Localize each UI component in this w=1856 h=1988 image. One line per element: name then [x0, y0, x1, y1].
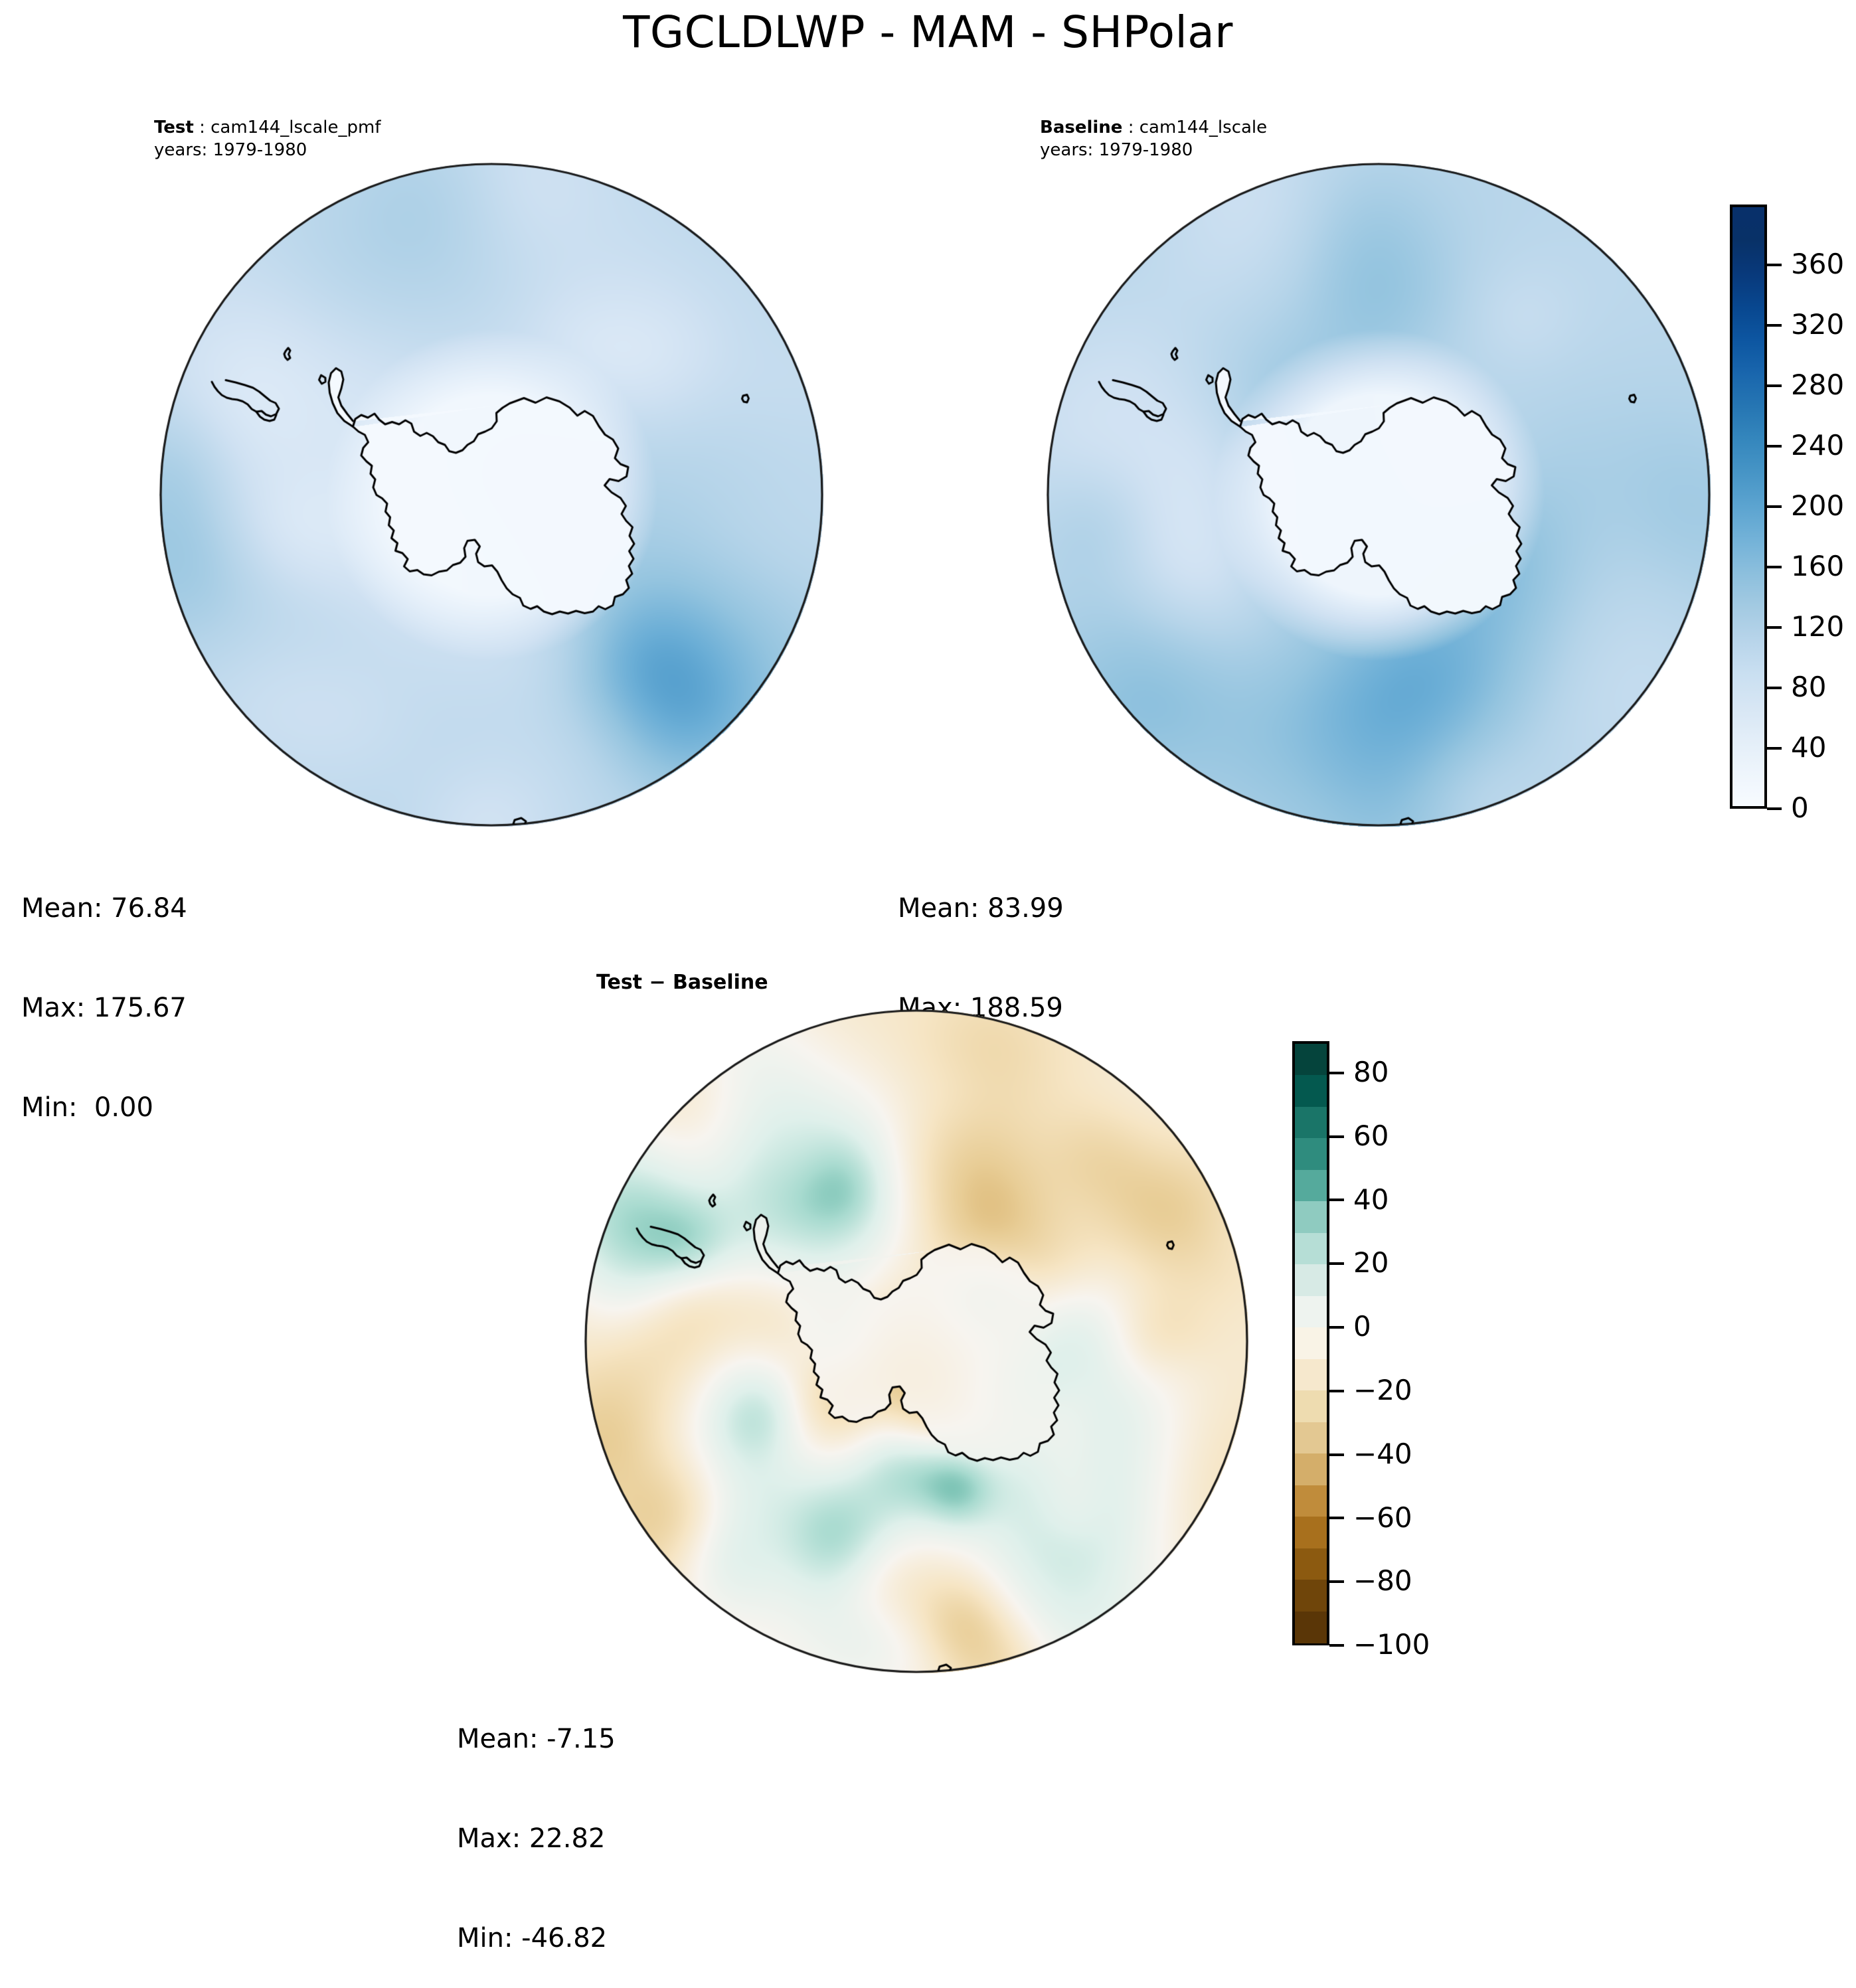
colorbar-tick-mark — [1767, 264, 1782, 266]
colorbar-tick-mark — [1329, 1135, 1344, 1138]
colorbar-tick-label: −60 — [1353, 1504, 1412, 1532]
colorbar-tick-label: 120 — [1791, 613, 1844, 641]
colorbar-gradient — [1730, 205, 1767, 809]
test-stats: Mean: 76.84 Max: 175.67 Min: 0.00 — [21, 825, 187, 1157]
test-header-value: cam144_lscale_pmf — [211, 118, 380, 137]
colorbar-bands — [1292, 1041, 1329, 1645]
colorbar-tick-mark — [1767, 626, 1782, 629]
colorbar-band — [1295, 1107, 1327, 1139]
colorbar-tick-mark — [1329, 1390, 1344, 1392]
colorbar-tick-label: −20 — [1353, 1376, 1412, 1404]
colorbar-band — [1295, 1548, 1327, 1580]
map-field-canvas — [584, 1009, 1248, 1673]
baseline-stat-mean: Mean: 83.99 — [898, 892, 1064, 925]
colorbar-tick-label: −100 — [1353, 1631, 1430, 1659]
colorbar-band — [1295, 1296, 1327, 1328]
colorbar-band — [1295, 1390, 1327, 1422]
page-title: TGCLDLWP - MAM - SHPolar — [0, 7, 1856, 58]
colorbar-tick-mark — [1767, 324, 1782, 327]
colorbar-tick-mark — [1329, 1644, 1344, 1647]
colorbar-tick-label: 200 — [1791, 492, 1844, 520]
colorbar-tick-mark — [1767, 445, 1782, 448]
baseline-header-value: cam144_lscale — [1139, 118, 1267, 137]
colorbar-band — [1295, 1580, 1327, 1612]
colorbar-tick-mark — [1329, 1517, 1344, 1519]
colorbar-tick-mark — [1767, 687, 1782, 689]
colorbar-band — [1295, 1612, 1327, 1643]
colorbar-band — [1295, 1233, 1327, 1265]
colorbar-band — [1295, 1485, 1327, 1517]
colorbar-band — [1295, 1264, 1327, 1296]
colorbar-tick-label: 40 — [1791, 734, 1826, 762]
test-panel-header: Test : cam144_lscale_pmf years: 1979-198… — [154, 116, 381, 161]
colorbar-tick-label: −40 — [1353, 1440, 1412, 1468]
test-polar-map — [159, 163, 823, 827]
colorbar-tick-label: 80 — [1791, 673, 1826, 701]
colorbar-tick-label: 0 — [1791, 794, 1809, 822]
colorbar-band — [1295, 1422, 1327, 1454]
map-field-canvas — [1047, 163, 1711, 827]
difference-panel-header: Test − Baseline — [596, 971, 768, 994]
colorbar-tick-mark — [1767, 505, 1782, 508]
colorbar-tick-mark — [1767, 566, 1782, 568]
colorbar-tick-mark — [1767, 384, 1782, 387]
map-field-canvas — [159, 163, 823, 827]
colorbar-band — [1295, 1170, 1327, 1202]
colorbar-tick-label: 280 — [1791, 371, 1844, 399]
baseline-panel-header: Baseline : cam144_lscale years: 1979-198… — [1040, 116, 1267, 161]
colorbar-tick-label: 240 — [1791, 432, 1844, 459]
colorbar-tick-label: 160 — [1791, 552, 1844, 580]
colorbar-band — [1295, 1517, 1327, 1548]
colorbar-band — [1295, 1327, 1327, 1359]
colorbar-band — [1295, 1044, 1327, 1076]
difference-stats: Mean: -7.15 Max: 22.82 Min: -46.82 — [457, 1656, 616, 1988]
colorbar-tick-label: 20 — [1353, 1249, 1389, 1277]
colorbar-tick-label: 80 — [1353, 1058, 1389, 1086]
colorbar-band — [1295, 1201, 1327, 1233]
baseline-header-years: years: 1979-1980 — [1040, 139, 1267, 161]
colorbar-tick-label: 60 — [1353, 1122, 1389, 1150]
colorbar-tick-mark — [1329, 1199, 1344, 1201]
test-header-sep: : — [194, 118, 211, 137]
colorbar-tick-mark — [1767, 747, 1782, 750]
test-stat-min: Min: 0.00 — [21, 1091, 187, 1124]
main-colorbar: 36032028024020016012080400 — [1730, 205, 1856, 812]
colorbar-tick-label: 40 — [1353, 1186, 1389, 1214]
test-stat-mean: Mean: 76.84 — [21, 892, 187, 925]
test-header-key: Test — [154, 118, 194, 137]
difference-stat-max: Max: 22.82 — [457, 1822, 616, 1855]
colorbar-tick-mark — [1329, 1326, 1344, 1329]
colorbar-tick-mark — [1767, 807, 1782, 810]
colorbar-tick-label: 320 — [1791, 311, 1844, 339]
difference-colorbar: 806040200−20−40−60−80−100 — [1292, 1041, 1458, 1649]
difference-stat-mean: Mean: -7.15 — [457, 1722, 616, 1756]
difference-stat-min: Min: -46.82 — [457, 1922, 616, 1955]
colorbar-band — [1295, 1359, 1327, 1391]
colorbar-band — [1295, 1453, 1327, 1485]
colorbar-tick-label: 360 — [1791, 250, 1844, 278]
colorbar-tick-mark — [1329, 1262, 1344, 1265]
colorbar-band — [1295, 1138, 1327, 1170]
colorbar-band — [1295, 1075, 1327, 1107]
colorbar-tick-mark — [1329, 1453, 1344, 1456]
difference-polar-map — [584, 1009, 1248, 1673]
test-header-years: years: 1979-1980 — [154, 139, 381, 161]
baseline-polar-map — [1047, 163, 1711, 827]
colorbar-tick-label: −80 — [1353, 1567, 1412, 1595]
colorbar-tick-mark — [1329, 1580, 1344, 1583]
baseline-header-sep: : — [1122, 118, 1139, 137]
colorbar-tick-mark — [1329, 1072, 1344, 1074]
test-stat-max: Max: 175.67 — [21, 991, 187, 1025]
colorbar-tick-label: 0 — [1353, 1313, 1371, 1341]
baseline-header-key: Baseline — [1040, 118, 1122, 137]
